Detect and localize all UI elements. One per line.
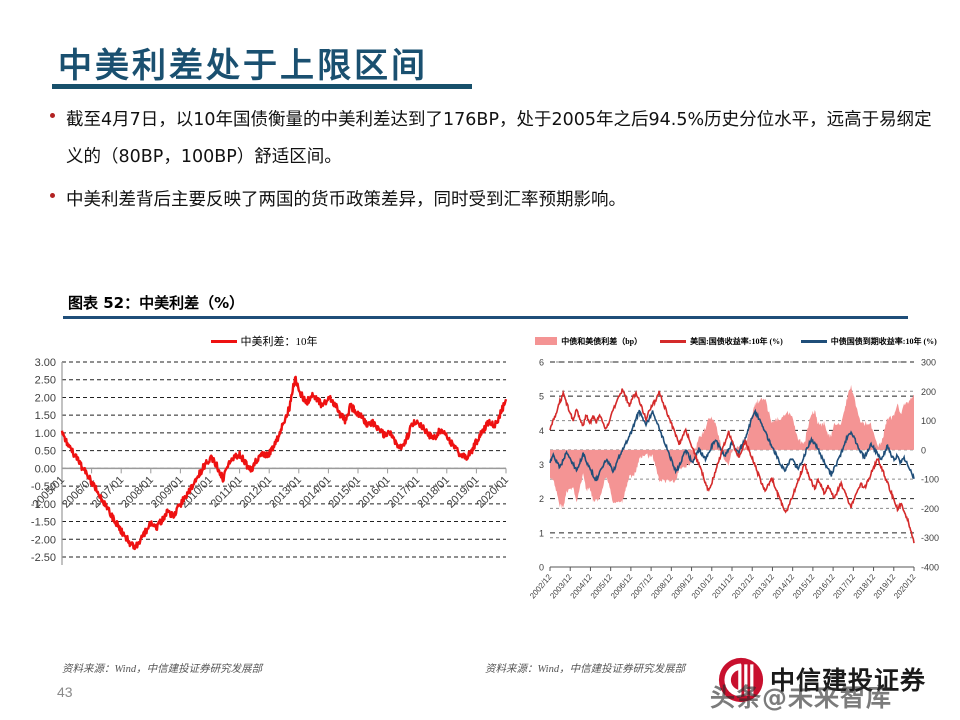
page-title: 中美利差处于上限区间 (58, 38, 428, 87)
figure-caption: 图表 52：中美利差（%） (68, 292, 244, 313)
svg-text:0.50: 0.50 (35, 446, 56, 458)
legend-item: 中债国债到期收益率:10年 (%) (801, 336, 937, 347)
svg-text:300: 300 (921, 358, 936, 368)
svg-text:2016/01: 2016/01 (356, 474, 393, 511)
svg-text:2007/01: 2007/01 (90, 474, 127, 511)
svg-text:5: 5 (539, 392, 544, 402)
svg-text:100: 100 (921, 416, 936, 426)
legend-color-swatch (660, 340, 686, 343)
chart-right-canvas: 3002001000-100-200-300-40065432102002/12… (516, 352, 956, 648)
bullet-text: 中美利差背后主要反映了两国的货币政策差异，同时受到汇率预期影响。 (66, 190, 626, 210)
svg-text:2018/01: 2018/01 (415, 474, 452, 511)
svg-text:4: 4 (539, 426, 544, 436)
list-item: 截至4月7日，以10年国债衡量的中美利差达到了176BP，处于2005年之后94… (44, 102, 934, 176)
svg-text:2017/01: 2017/01 (386, 474, 423, 511)
bullet-dot-icon (50, 193, 55, 198)
svg-text:1.50: 1.50 (35, 410, 56, 422)
chart-china-us-spread: 中美利差：10年 3.002.502.001.501.000.500.00-0.… (14, 330, 514, 650)
legend-color-swatch (535, 337, 557, 345)
svg-text:-400: -400 (921, 563, 939, 573)
svg-text:-2.50: -2.50 (31, 552, 56, 564)
page-number: 43 (57, 684, 73, 700)
list-item: 中美利差背后主要反映了两国的货币政策差异，同时受到汇率预期影响。 (44, 182, 934, 219)
legend-label: 美国:国债收益率:10年 (%) (690, 336, 783, 347)
svg-text:2008/01: 2008/01 (119, 474, 156, 511)
svg-text:1.00: 1.00 (35, 428, 56, 440)
bullet-list: 截至4月7日，以10年国债衡量的中美利差达到了176BP，处于2005年之后94… (44, 102, 934, 225)
figure-caption-underline (63, 316, 908, 319)
source-note-right: 资料来源：Wind，中信建投证券研究发展部 (485, 661, 685, 676)
legend-color-swatch (801, 340, 827, 343)
svg-text:-300: -300 (921, 533, 939, 543)
svg-text:2012/01: 2012/01 (238, 474, 275, 511)
slide-root: 中美利差处于上限区间 截至4月7日，以10年国债衡量的中美利差达到了176BP，… (0, 0, 960, 720)
svg-text:0: 0 (921, 445, 926, 455)
svg-text:2015/01: 2015/01 (327, 474, 364, 511)
legend-item: 中美利差：10年 (211, 333, 318, 349)
svg-text:2.00: 2.00 (35, 392, 56, 404)
legend-color-swatch (211, 340, 237, 343)
bullet-dot-icon (50, 113, 55, 118)
legend-label: 中债和美债利差（bp） (561, 336, 642, 347)
chart-legend: 中美利差：10年 (14, 330, 514, 352)
legend-item: 中债和美债利差（bp） (535, 336, 642, 347)
svg-text:2020/12: 2020/12 (892, 572, 918, 600)
watermark-text: 头条@未来智库 (710, 678, 960, 714)
svg-text:2014/01: 2014/01 (297, 474, 334, 511)
chart-left-canvas: 3.002.502.001.501.000.500.00-0.50-1.00-1… (14, 352, 514, 648)
legend-label: 中债国债到期收益率:10年 (%) (831, 336, 937, 347)
legend-label: 中美利差：10年 (241, 333, 318, 349)
svg-text:2020/01: 2020/01 (475, 474, 512, 511)
svg-text:2013/01: 2013/01 (267, 474, 304, 511)
svg-text:2.50: 2.50 (35, 375, 56, 387)
svg-text:0: 0 (539, 563, 544, 573)
title-underline (52, 84, 472, 89)
svg-text:-2.00: -2.00 (31, 534, 56, 546)
svg-text:3: 3 (539, 460, 544, 470)
svg-text:3.00: 3.00 (35, 357, 56, 369)
svg-text:-100: -100 (921, 475, 939, 485)
svg-text:6: 6 (539, 358, 544, 368)
legend-item: 美国:国债收益率:10年 (%) (660, 336, 783, 347)
chart-china-us-yields: 中债和美债利差（bp） 美国:国债收益率:10年 (%) 中债国债到期收益率:1… (516, 330, 956, 650)
svg-text:-1.50: -1.50 (31, 517, 56, 529)
source-note-left: 资料来源：Wind，中信建投证券研究发展部 (62, 661, 262, 676)
chart-legend: 中债和美债利差（bp） 美国:国债收益率:10年 (%) 中债国债到期收益率:1… (516, 330, 956, 352)
svg-text:0.00: 0.00 (35, 463, 56, 475)
svg-text:2: 2 (539, 494, 544, 504)
svg-text:2019/01: 2019/01 (445, 474, 482, 511)
svg-text:1: 1 (539, 528, 544, 538)
bullet-text: 截至4月7日，以10年国债衡量的中美利差达到了176BP，处于2005年之后94… (66, 110, 932, 167)
svg-text:-200: -200 (921, 504, 939, 514)
svg-text:200: 200 (921, 387, 936, 397)
